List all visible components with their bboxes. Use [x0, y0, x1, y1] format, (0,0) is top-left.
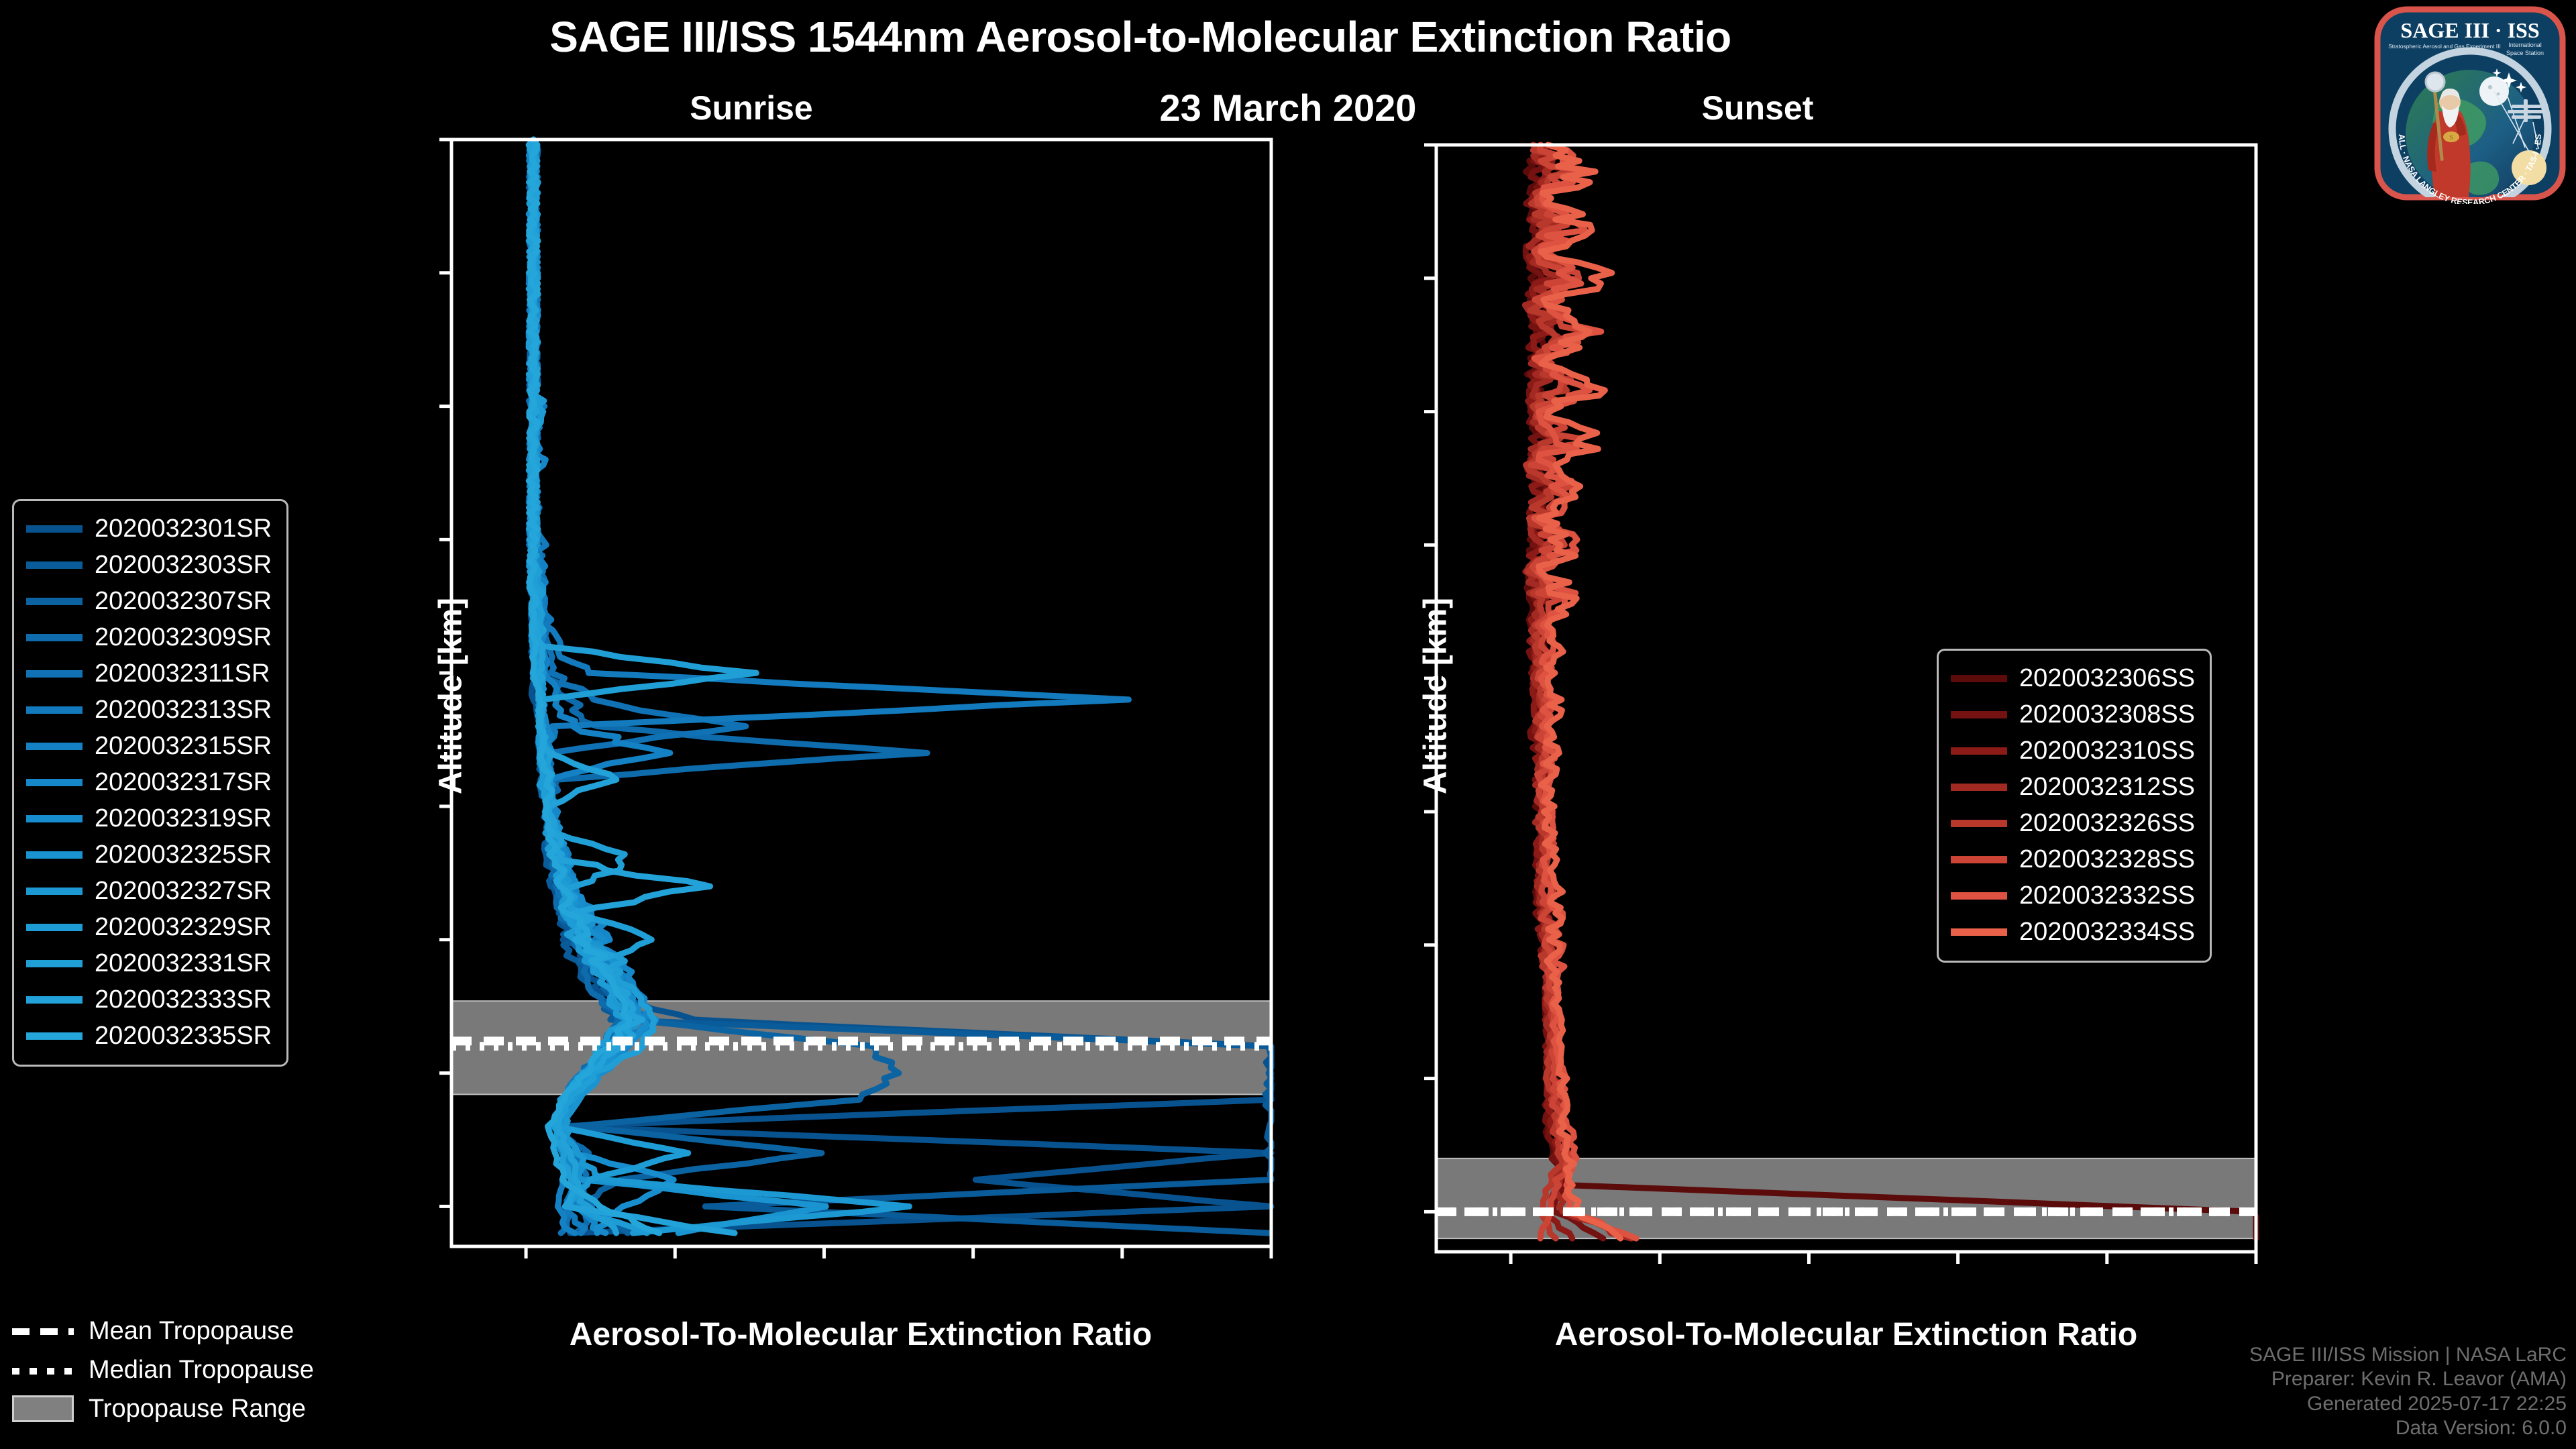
- logo-subtitle-right-2: Space Station: [2506, 50, 2544, 56]
- legend-item[interactable]: 2020032325SR: [26, 837, 272, 873]
- sunset-event-color-swatch: [1951, 784, 2007, 791]
- sunrise-chart-svg: 020406080100101520253035404550: [439, 127, 1285, 1268]
- sunrise-event-color-swatch: [26, 1032, 83, 1040]
- legend-item-label: 2020032333SR: [95, 985, 272, 1014]
- legend-item[interactable]: 2020032307SR: [26, 583, 272, 619]
- legend-item-label: 2020032332SS: [2019, 881, 2195, 910]
- range-swatch-icon: [12, 1395, 74, 1422]
- legend-item[interactable]: 2020032333SR: [26, 981, 272, 1018]
- sunset-event-color-swatch: [1951, 747, 2007, 755]
- mean-tropopause-label: Mean Tropopause: [89, 1317, 294, 1346]
- sunrise-event-color-swatch: [26, 996, 83, 1004]
- legend-item-label: 2020032307SR: [95, 587, 272, 616]
- legend-item-label: 2020032303SR: [95, 551, 272, 580]
- sunrise-legend[interactable]: 2020032301SR2020032303SR2020032307SR2020…: [12, 499, 288, 1067]
- legend-item-median-tropopause: Median Tropopause: [12, 1350, 314, 1389]
- figure-canvas: SAGE III/ISS 1544nm Aerosol-to-Molecular…: [0, 0, 2576, 1449]
- sunrise-event-color-swatch: [26, 670, 83, 678]
- sunset-event-color-swatch: [1951, 892, 2007, 900]
- sunrise-event-color-swatch: [26, 815, 83, 822]
- legend-item[interactable]: 2020032313SR: [26, 692, 272, 728]
- legend-item-label: 2020032309SR: [95, 623, 272, 652]
- sunset-event-color-swatch: [1951, 711, 2007, 718]
- legend-item[interactable]: 2020032328SS: [1951, 841, 2195, 877]
- legend-item[interactable]: 2020032327SR: [26, 873, 272, 909]
- legend-item[interactable]: 2020032306SS: [1951, 660, 2195, 696]
- legend-item-label: 2020032306SS: [2019, 664, 2195, 693]
- legend-item-label: 2020032319SR: [95, 804, 272, 833]
- sunrise-event-color-swatch: [26, 525, 83, 533]
- sunrise-event-color-swatch: [26, 851, 83, 859]
- sunrise-event-color-swatch: [26, 598, 83, 605]
- legend-item-label: 2020032317SR: [95, 768, 272, 797]
- tropopause-range-label: Tropopause Range: [89, 1395, 306, 1424]
- legend-item[interactable]: 2020032301SR: [26, 511, 272, 547]
- legend-item-label: 2020032335SR: [95, 1022, 272, 1051]
- legend-item[interactable]: 2020032331SR: [26, 945, 272, 981]
- legend-item[interactable]: 2020032334SS: [1951, 914, 2195, 950]
- sunrise-event-color-swatch: [26, 924, 83, 931]
- sunrise-event-color-swatch: [26, 561, 83, 569]
- legend-item-label: 2020032310SS: [2019, 737, 2195, 765]
- logo-subtitle-left: Stratospheric Aerosol and Gas Experiment…: [2388, 43, 2501, 50]
- footer-line-generated: Generated 2025-07-17 22:25: [2249, 1392, 2567, 1417]
- sunrise-event-color-swatch: [26, 634, 83, 641]
- legend-item[interactable]: 2020032329SR: [26, 909, 272, 945]
- legend-item-label: 2020032312SS: [2019, 773, 2195, 802]
- legend-item[interactable]: 2020032311SR: [26, 655, 272, 692]
- dashed-line-icon: [12, 1321, 74, 1341]
- legend-item[interactable]: 2020032326SS: [1951, 805, 2195, 841]
- sunrise-event-color-swatch: [26, 779, 83, 786]
- sunrise-event-color-swatch: [26, 888, 83, 895]
- sunset-y-axis-label: Altitude [km]: [1417, 555, 1454, 837]
- mission-patch-icon: S SAGE III · ISS Stratospheric Aerosol a…: [2369, 3, 2571, 204]
- date-subtitle: 23 March 2020: [1000, 86, 1576, 129]
- legend-item-label: 2020032301SR: [95, 515, 272, 543]
- legend-item[interactable]: 2020032335SR: [26, 1018, 272, 1054]
- legend-item-label: 2020032308SS: [2019, 700, 2195, 729]
- sunrise-x-axis-label: Aerosol-To-Molecular Extinction Ratio: [451, 1316, 1271, 1353]
- sunset-legend[interactable]: 2020032306SS2020032308SS2020032310SS2020…: [1937, 649, 2212, 963]
- legend-item[interactable]: 2020032312SS: [1951, 769, 2195, 805]
- legend-item-label: 2020032315SR: [95, 732, 272, 761]
- legend-item-label: 2020032311SR: [95, 659, 270, 688]
- footer-line-version: Data Version: 6.0.0: [2249, 1416, 2567, 1441]
- legend-item[interactable]: 2020032319SR: [26, 800, 272, 837]
- sunrise-panel-title: Sunrise: [644, 89, 859, 127]
- legend-item[interactable]: 2020032315SR: [26, 728, 272, 764]
- legend-item-label: 2020032329SR: [95, 913, 272, 942]
- sunrise-event-color-swatch: [26, 960, 83, 967]
- legend-item[interactable]: 2020032317SR: [26, 764, 272, 800]
- median-tropopause-label: Median Tropopause: [89, 1356, 314, 1385]
- legend-item-label: 2020032327SR: [95, 877, 272, 906]
- legend-item-label: 2020032313SR: [95, 696, 272, 724]
- legend-item[interactable]: 2020032308SS: [1951, 696, 2195, 733]
- legend-item[interactable]: 2020032332SS: [1951, 877, 2195, 914]
- svg-text:S: S: [2449, 134, 2453, 142]
- legend-item-tropopause-range: Tropopause Range: [12, 1389, 314, 1428]
- legend-item[interactable]: 2020032303SR: [26, 547, 272, 583]
- tropopause-legend: Mean Tropopause Median Tropopause Tropop…: [12, 1311, 314, 1428]
- page-title: SAGE III/ISS 1544nm Aerosol-to-Molecular…: [0, 12, 2281, 62]
- sunset-event-color-swatch: [1951, 928, 2007, 936]
- logo-title: SAGE III · ISS: [2400, 18, 2539, 42]
- legend-item-label: 2020032334SS: [2019, 918, 2195, 947]
- legend-item-label: 2020032326SS: [2019, 809, 2195, 838]
- legend-item-label: 2020032328SS: [2019, 845, 2195, 874]
- legend-item-mean-tropopause: Mean Tropopause: [12, 1311, 314, 1350]
- sunset-event-color-swatch: [1951, 675, 2007, 682]
- sunset-event-color-swatch: [1951, 820, 2007, 827]
- logo-subtitle-right-1: International: [2508, 42, 2542, 48]
- footer-credits: SAGE III/ISS Mission | NASA LaRC Prepare…: [2249, 1343, 2567, 1441]
- legend-item[interactable]: 2020032309SR: [26, 619, 272, 655]
- sunset-event-color-swatch: [1951, 856, 2007, 863]
- legend-item-label: 2020032331SR: [95, 949, 272, 978]
- footer-line-mission: SAGE III/ISS Mission | NASA LaRC: [2249, 1343, 2567, 1368]
- footer-line-preparer: Preparer: Kevin R. Leavor (AMA): [2249, 1367, 2567, 1392]
- sunrise-event-color-swatch: [26, 743, 83, 750]
- sunrise-event-color-swatch: [26, 706, 83, 714]
- sunset-x-axis-label: Aerosol-To-Molecular Extinction Ratio: [1436, 1316, 2256, 1353]
- dotted-line-icon: [12, 1360, 74, 1380]
- legend-item[interactable]: 2020032310SS: [1951, 733, 2195, 769]
- sunset-panel-title: Sunset: [1650, 89, 1865, 127]
- legend-item-label: 2020032325SR: [95, 841, 272, 869]
- sunrise-y-axis-label: Altitude [km]: [433, 555, 470, 837]
- sage-iii-iss-logo: S SAGE III · ISS Stratospheric Aerosol a…: [2369, 3, 2571, 204]
